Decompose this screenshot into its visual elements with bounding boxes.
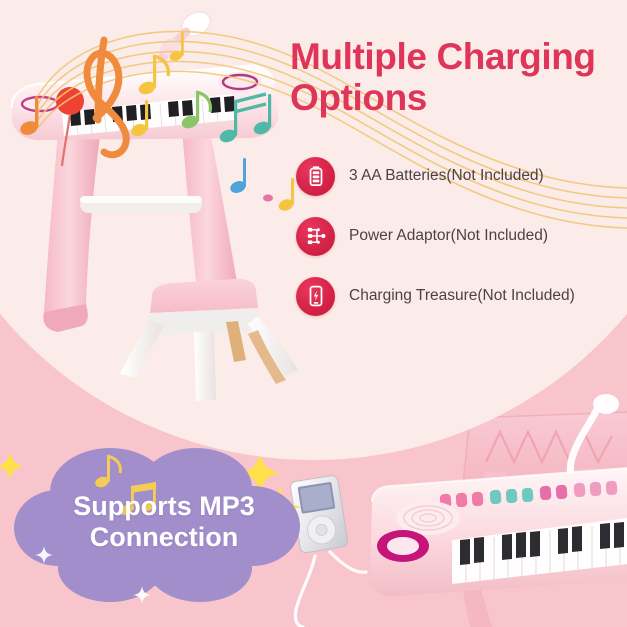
star-icon (133, 586, 151, 604)
feature-label: 3 AA Batteries(Not Included) (349, 167, 544, 185)
feature-label: Charging Treasure(Not Included) (349, 287, 575, 305)
white-keys (452, 518, 627, 584)
speaker-grille (396, 501, 460, 535)
keyboard-pole (462, 586, 492, 627)
feature-item-power-adaptor: Power Adaptor(Not Included) (296, 206, 626, 266)
mp3-callout-cloud: Supports MP3 Connection (14, 442, 314, 607)
feature-item-batteries: 3 AA Batteries(Not Included) (296, 146, 626, 206)
product-marketing-image: Multiple Charging Options 3 AA Batteries… (0, 0, 627, 627)
feature-item-charging-treasure: Charging Treasure(Not Included) (296, 266, 626, 326)
cloud-text: Supports MP3 Connection (14, 491, 314, 553)
black-keys (460, 522, 624, 565)
power-adaptor-icon (296, 217, 335, 256)
headline-line-2: Options (290, 77, 615, 118)
music-stand (462, 412, 627, 498)
feature-list: 3 AA Batteries(Not Included) Power Adapt… (296, 146, 626, 326)
cloud-line-2: Connection (14, 522, 314, 553)
page-title: Multiple Charging Options (290, 36, 615, 119)
keyboard-body (370, 468, 627, 596)
feature-label: Power Adaptor(Not Included) (349, 227, 548, 245)
charging-treasure-icon (296, 277, 335, 316)
magenta-ring-dial (377, 530, 429, 562)
cloud-line-1: Supports MP3 (14, 491, 314, 522)
headline-line-1: Multiple Charging (290, 36, 615, 77)
battery-icon (296, 157, 335, 196)
colored-buttons (440, 481, 618, 509)
microphone-arm (570, 394, 619, 494)
